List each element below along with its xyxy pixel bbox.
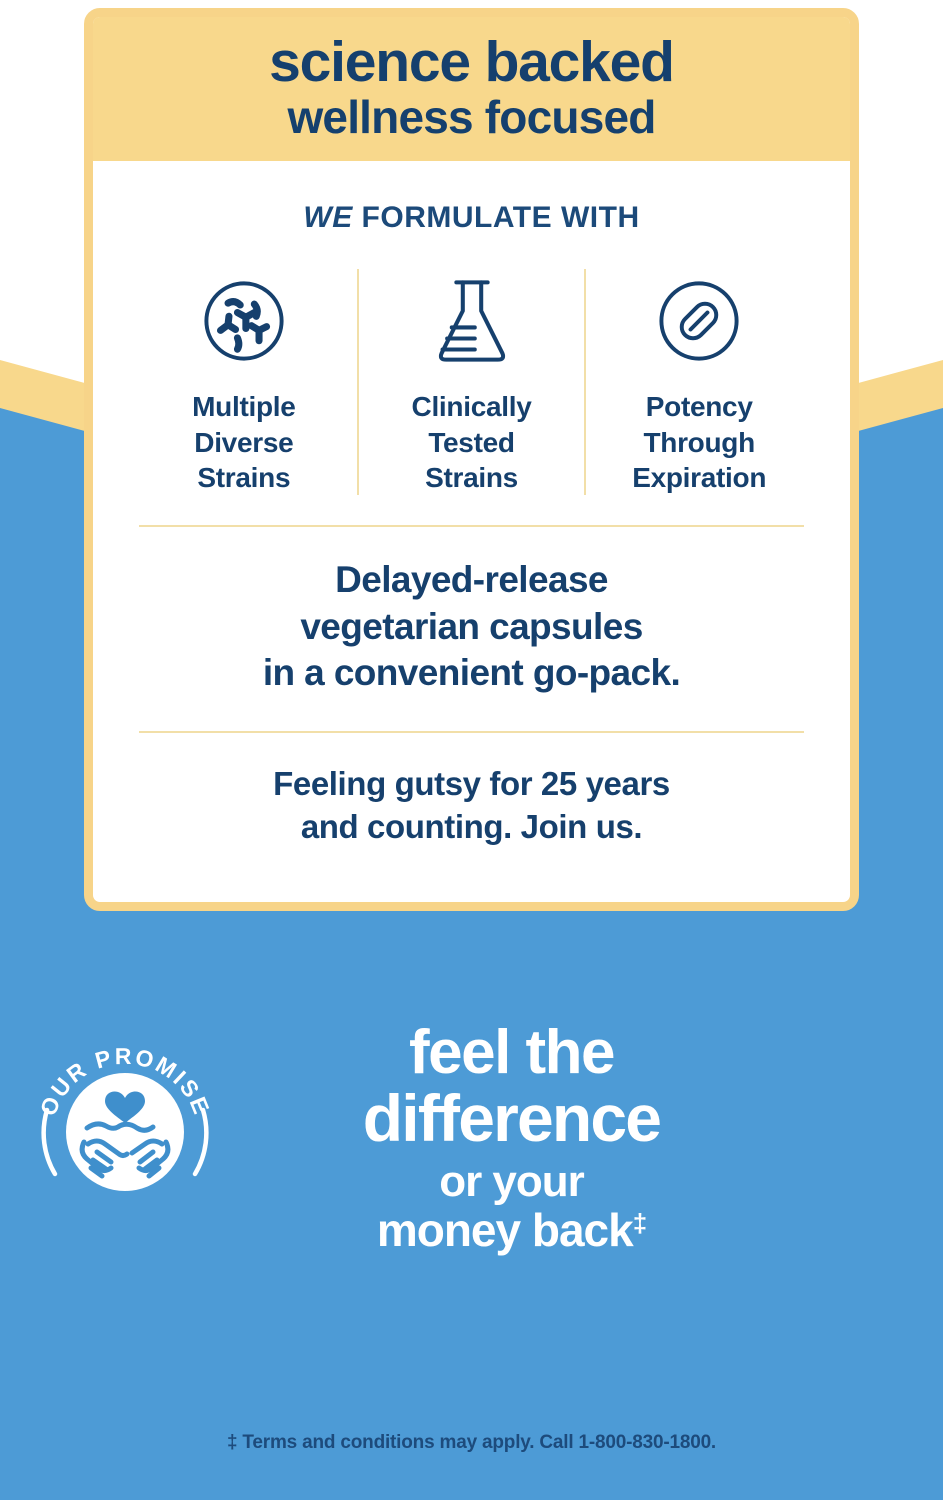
formulate-heading: WE FORMULATE WITH — [131, 201, 812, 235]
brand-tagline-line: and counting. Join us. — [131, 806, 812, 849]
feature-multiple-diverse-strains: Multiple Diverse Strains — [131, 269, 357, 495]
feature-columns: Multiple Diverse Strains — [131, 269, 812, 495]
footer-disclaimer-text: ‡ Terms and conditions may apply. Call 1… — [227, 1432, 716, 1453]
feature-label-line: Expiration — [632, 460, 766, 495]
capsule-description: Delayed-release vegetarian capsules in a… — [131, 557, 812, 701]
capsule-description-line: Delayed-release — [131, 557, 812, 604]
header-line-1: science backed — [107, 33, 836, 91]
card-header: science backed wellness focused — [93, 17, 850, 161]
promise-headline-line-4-text: money back — [377, 1204, 633, 1256]
brand-tagline-line: Feeling gutsy for 25 years — [131, 763, 812, 806]
feature-label-line: Strains — [412, 460, 532, 495]
feature-label-line: Tested — [412, 425, 532, 460]
feature-label-line: Clinically — [412, 389, 532, 424]
promise-headline-line-1: feel the — [250, 1022, 773, 1084]
feature-label-line: Strains — [192, 460, 295, 495]
header-line-2: wellness focused — [107, 93, 836, 141]
page-stage: science backed wellness focused WE FORMU… — [0, 0, 943, 1500]
feature-label-line: Diverse — [192, 425, 295, 460]
feature-label-line: Through — [632, 425, 766, 460]
feature-label: Multiple Diverse Strains — [192, 389, 295, 495]
card-body: WE FORMULATE WITH — [93, 201, 850, 848]
lab-flask-icon — [426, 269, 518, 373]
divider-top — [139, 525, 804, 527]
science-backed-card: science backed wellness focused WE FORMU… — [84, 8, 859, 911]
feature-label: Potency Through Expiration — [632, 389, 766, 495]
feature-label-line: Multiple — [192, 389, 295, 424]
capsule-description-line: in a convenient go-pack. — [131, 650, 812, 697]
handshake-heart-badge-icon: OUR PROMISE TO YOU — [25, 1032, 225, 1232]
microbe-strains-icon — [197, 269, 291, 373]
formulate-heading-emphasis: WE — [303, 201, 352, 234]
promise-headline-line-4: money back‡ — [250, 1206, 773, 1256]
promise-headline: feel the difference or your money back‡ — [250, 1022, 943, 1256]
brand-tagline: Feeling gutsy for 25 years and counting.… — [131, 763, 812, 849]
promise-section: OUR PROMISE TO YOU feel the difference o… — [0, 1022, 943, 1256]
formulate-heading-rest: FORMULATE WITH — [353, 201, 640, 234]
capsule-circle-icon — [652, 269, 746, 373]
dagger-symbol: ‡ — [633, 1208, 646, 1238]
badge-wrap: OUR PROMISE TO YOU — [0, 1022, 250, 1232]
divider-bottom — [139, 731, 804, 733]
feature-label-line: Potency — [632, 389, 766, 424]
feature-potency-through-expiration: Potency Through Expiration — [584, 269, 812, 495]
capsule-description-line: vegetarian capsules — [131, 604, 812, 651]
promise-headline-line-3: or your — [250, 1158, 773, 1206]
footer-disclaimer: ‡ Terms and conditions may apply. Call 1… — [0, 1432, 943, 1454]
feature-label: Clinically Tested Strains — [412, 389, 532, 495]
promise-headline-line-2: difference — [250, 1084, 773, 1154]
feature-clinically-tested-strains: Clinically Tested Strains — [357, 269, 585, 495]
